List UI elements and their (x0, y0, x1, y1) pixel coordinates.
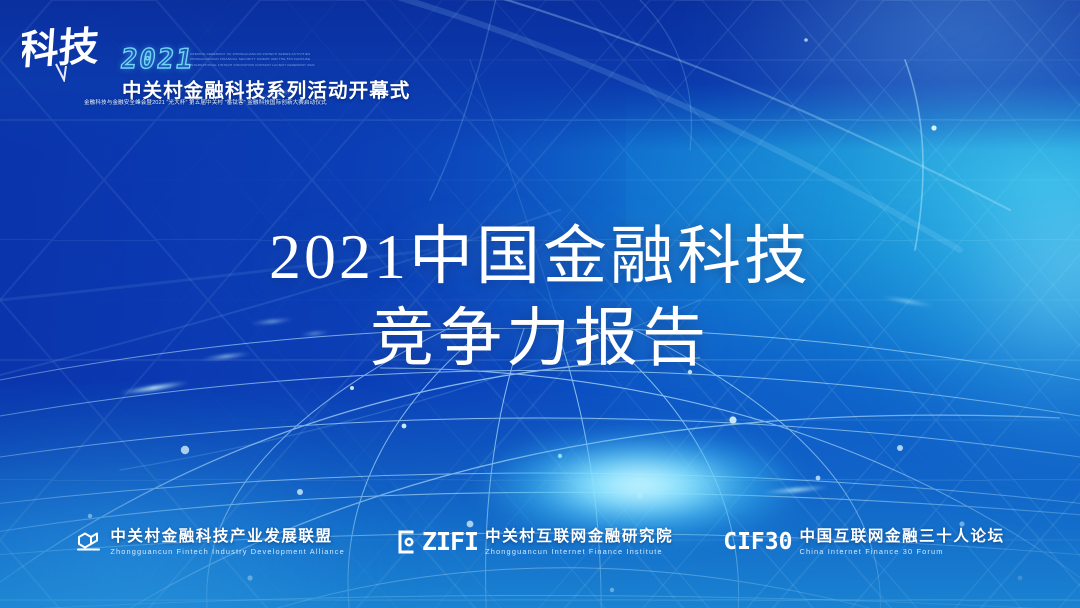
banner-subtitle: 金融科技与金融安全峰会暨2021 “光大杯” 第五届中关村 “番钛客” 金融科技… (84, 98, 327, 106)
cif30-wordmark: CIF30 (723, 529, 792, 555)
hero-title-line-1: 2021中国金融科技 (0, 216, 1080, 298)
logo-1-en: Zhongguancun Fintech Industry Developmen… (110, 546, 345, 557)
hero-title: 2021中国金融科技 竞争力报告 (0, 216, 1080, 380)
event-banner: 科技 2021 OPENING CEREMONY OF ZHONGGUANCUN… (0, 0, 1080, 108)
logo-cif30-forum: CIF30 中国互联网金融三十人论坛 China Internet Financ… (723, 528, 1004, 557)
zifi-bracket-icon (395, 529, 415, 555)
poster-slide: 科技 2021 OPENING CEREMONY OF ZHONGGUANCUN… (0, 0, 1080, 608)
banner-year: 2021 (119, 44, 197, 75)
partner-logos: 中关村金融科技产业发展联盟 Zhongguancun Fintech Indus… (0, 520, 1080, 564)
logo-1-cn: 中关村金融科技产业发展联盟 (110, 528, 345, 546)
zifi-wordmark: ZIFI (422, 529, 478, 555)
logo-2-cn: 中关村互联网金融研究院 (485, 528, 673, 546)
banner-english-lines: OPENING CEREMONY OF ZHONGGUANCUN FINTECH… (190, 52, 336, 68)
keji-calligraphy-text: 科技 (22, 24, 101, 74)
logo-3-cn: 中国互联网金融三十人论坛 (799, 528, 1004, 546)
logo-2-en: Zhongguancun Internet Finance Institute (485, 546, 673, 557)
alliance-cube-icon (75, 528, 103, 556)
logo-zgc-fintech-alliance: 中关村金融科技产业发展联盟 Zhongguancun Fintech Indus… (75, 528, 345, 557)
keji-calligraphy-logo: 科技 (22, 20, 126, 82)
banner-english-line-3: INTERNATIONAL FINTECH INNOVATION CONTEST… (190, 63, 336, 68)
logo-zgc-internet-finance-institute: ZIFI 中关村互联网金融研究院 Zhongguancun Internet F… (395, 528, 673, 557)
hero-title-line-2: 竞争力报告 (0, 298, 1080, 380)
logo-3-en: China Internet Finance 30 Forum (799, 546, 1004, 557)
